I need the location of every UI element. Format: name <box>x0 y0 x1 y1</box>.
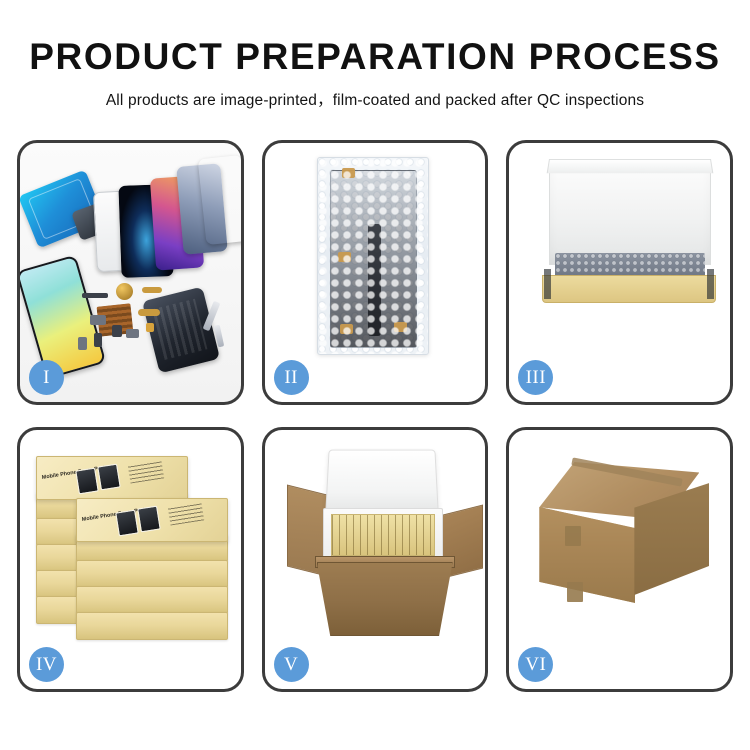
retail-box-top-right: Mobile Phone Spare Parts <box>76 498 228 542</box>
earpiece-mesh <box>82 293 108 298</box>
tape-tab-top <box>342 168 355 178</box>
speaker-component <box>116 283 133 300</box>
step-badge-2: II <box>274 360 309 395</box>
tape-tab-lower-right <box>394 322 407 332</box>
screen-flex-cable <box>368 224 381 337</box>
stacked-retail-boxes-inside <box>331 514 435 556</box>
step-2-image: II <box>265 143 486 402</box>
flex-cable-2 <box>138 309 160 316</box>
step-badge-5: V <box>274 647 309 682</box>
foam-box-lid <box>325 450 438 513</box>
carton-left-face <box>539 507 635 603</box>
step-badge-4: IV <box>29 647 64 682</box>
step-4-image: Mobile Phone Spare Parts Mobile Phone Sp… <box>20 430 241 689</box>
step-panel-6[interactable]: VI <box>506 427 733 692</box>
retail-box-right-3 <box>76 560 228 588</box>
tape-tab-lower-left <box>340 324 353 334</box>
carton-body <box>317 562 453 636</box>
page-title: PRODUCT PREPARATION PROCESS <box>0 38 750 77</box>
box-art-screen-b <box>97 464 121 491</box>
kraft-box-front <box>542 275 716 303</box>
tape-tab-mid <box>338 252 351 262</box>
foam-lid-edge <box>547 159 714 173</box>
step-panel-1[interactable]: I <box>17 140 244 405</box>
flex-cable-1 <box>142 287 162 293</box>
box-spec-text-left <box>128 460 164 483</box>
box-flap-right <box>707 269 714 299</box>
step-badge-6: VI <box>518 647 553 682</box>
bracket-part <box>126 329 139 338</box>
box-art-screen-d <box>137 506 161 533</box>
carton-tape-upper <box>565 526 581 546</box>
step-panel-2[interactable]: II <box>262 140 489 405</box>
step-3-image: III <box>509 143 730 402</box>
bubble-wrap-bag <box>317 157 429 355</box>
step-panel-5[interactable]: V <box>262 427 489 692</box>
page-header: PRODUCT PREPARATION PROCESS All products… <box>0 0 750 110</box>
step-6-image: VI <box>509 430 730 689</box>
retail-box-top-left: Mobile Phone Spare Parts <box>36 456 188 500</box>
step-panel-4[interactable]: Mobile Phone Spare Parts Mobile Phone Sp… <box>17 427 244 692</box>
step-badge-1: I <box>29 360 64 395</box>
retail-box-right-2 <box>76 586 228 614</box>
small-screen-part <box>78 337 87 350</box>
step-badge-3: III <box>518 360 553 395</box>
retail-box-right-1 <box>76 612 228 640</box>
page-subtitle: All products are image-printed，film-coat… <box>0 88 750 110</box>
retail-box-stack: Mobile Phone Spare Parts Mobile Phone Sp… <box>36 456 231 638</box>
foam-lid-panel <box>549 159 711 265</box>
step-1-image: I <box>20 143 241 402</box>
box-flap-left <box>544 269 551 299</box>
step-panel-3[interactable]: III <box>506 140 733 405</box>
box-spec-text-right <box>168 502 204 525</box>
carton-tape-lower <box>567 582 583 602</box>
process-step-grid: I II III <box>17 140 733 692</box>
box-art-screen-c <box>115 510 139 537</box>
gold-connector <box>146 323 154 332</box>
box-art-screen-a <box>75 468 99 495</box>
step-5-image: V <box>265 430 486 689</box>
camera-module <box>90 315 106 325</box>
sim-tray <box>94 333 102 347</box>
vibration-motor <box>112 325 122 337</box>
